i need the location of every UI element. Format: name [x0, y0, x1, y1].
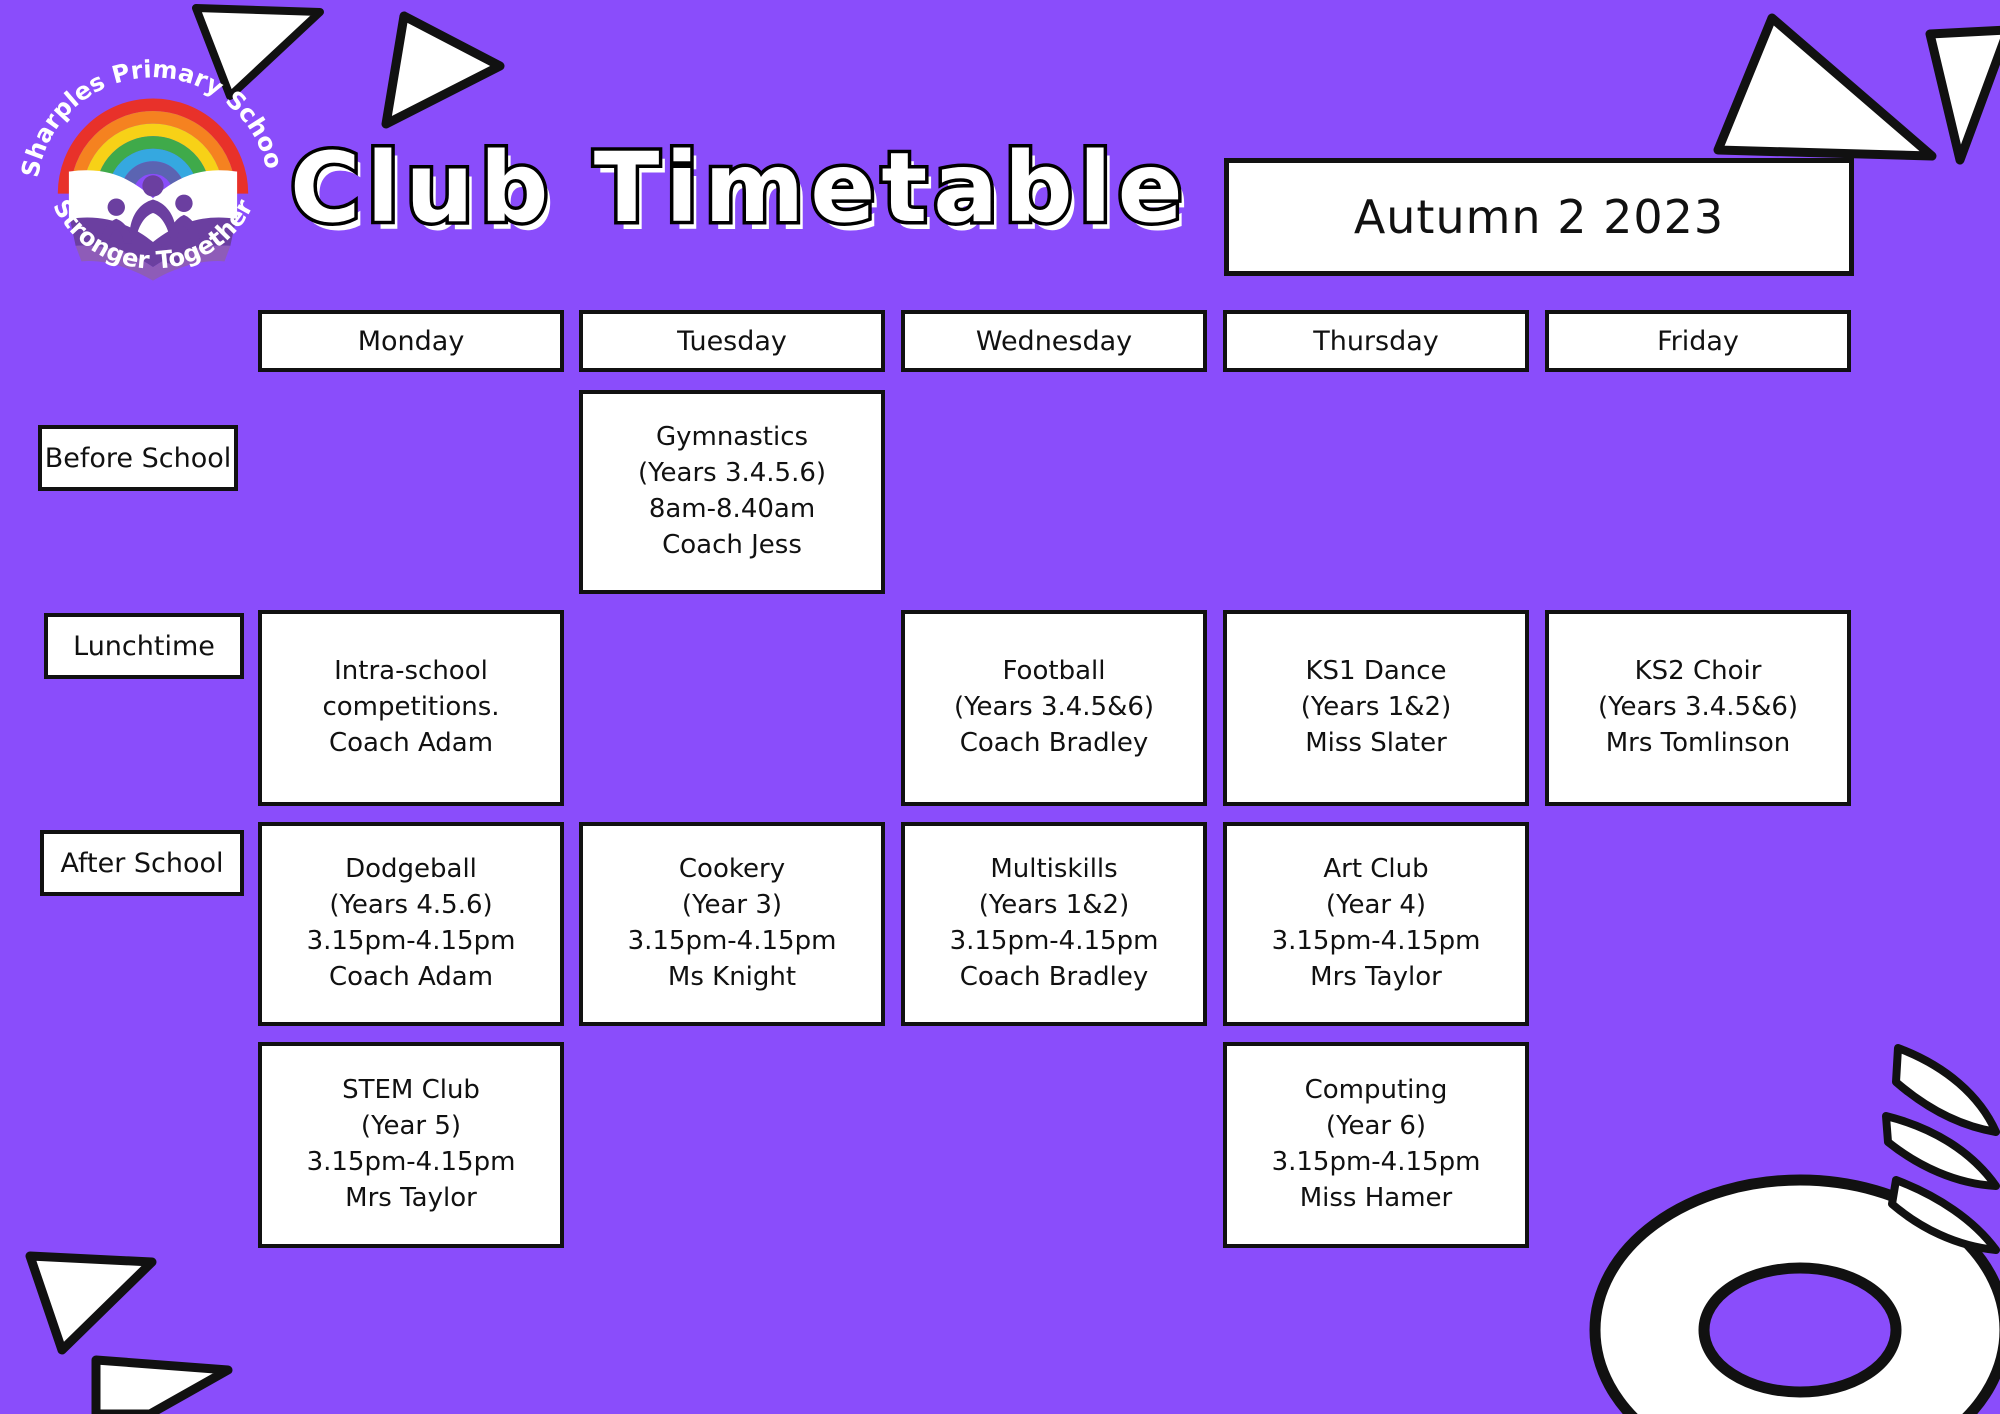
club-time: 3.15pm-4.15pm: [950, 924, 1159, 960]
club-years: (Years 1&2): [1301, 690, 1452, 726]
club-years: (Years 3.4.5&6): [954, 690, 1154, 726]
club-years: (Years 1&2): [979, 888, 1130, 924]
club-leader: Miss Slater: [1305, 726, 1447, 762]
row-label-before-school: Before School: [38, 425, 238, 491]
club-time: 3.15pm-4.15pm: [1272, 1145, 1481, 1181]
club-years: (Years 3.4.5&6): [1598, 690, 1798, 726]
day-header-label: Tuesday: [677, 326, 787, 357]
club-leader: Coach Adam: [329, 726, 493, 762]
club-card-computing[interactable]: Computing (Year 6) 3.15pm-4.15pm Miss Ha…: [1223, 1042, 1529, 1248]
day-header-wednesday: Wednesday: [901, 310, 1207, 372]
club-years: (Year 4): [1326, 888, 1426, 924]
term-badge: Autumn 2 2023: [1224, 158, 1854, 276]
club-card-gymnastics[interactable]: Gymnastics (Years 3.4.5.6) 8am-8.40am Co…: [579, 390, 885, 594]
day-header-monday: Monday: [258, 310, 564, 372]
day-header-tuesday: Tuesday: [579, 310, 885, 372]
club-name: Intra-school: [334, 654, 488, 690]
club-leader: Mrs Tomlinson: [1606, 726, 1791, 762]
term-label: Autumn 2 2023: [1354, 190, 1724, 244]
club-card-intra-school-competitions[interactable]: Intra-school competitions. Coach Adam: [258, 610, 564, 806]
day-header-label: Friday: [1657, 326, 1739, 357]
club-leader: Coach Bradley: [960, 726, 1149, 762]
club-years: (Year 6): [1326, 1109, 1426, 1145]
club-card-dodgeball[interactable]: Dodgeball (Years 4.5.6) 3.15pm-4.15pm Co…: [258, 822, 564, 1026]
club-card-football[interactable]: Football (Years 3.4.5&6) Coach Bradley: [901, 610, 1207, 806]
club-name: Dodgeball: [345, 852, 477, 888]
day-header-label: Monday: [358, 326, 465, 357]
club-leader: Mrs Taylor: [1310, 960, 1442, 996]
club-time: 3.15pm-4.15pm: [1272, 924, 1481, 960]
club-time: 3.15pm-4.15pm: [307, 1145, 516, 1181]
club-leader: Coach Bradley: [960, 960, 1149, 996]
club-card-art-club[interactable]: Art Club (Year 4) 3.15pm-4.15pm Mrs Tayl…: [1223, 822, 1529, 1026]
club-card-multiskills[interactable]: Multiskills (Years 1&2) 3.15pm-4.15pm Co…: [901, 822, 1207, 1026]
day-header-label: Wednesday: [976, 326, 1132, 357]
club-timetable-poster: Sharples Primary School Stronger Togethe…: [0, 0, 2000, 1414]
club-card-cookery[interactable]: Cookery (Year 3) 3.15pm-4.15pm Ms Knight: [579, 822, 885, 1026]
club-time: 8am-8.40am: [649, 492, 815, 528]
club-name: Multiskills: [990, 852, 1117, 888]
day-header-friday: Friday: [1545, 310, 1851, 372]
page-title: Club Timetable: [290, 140, 1189, 236]
club-name: KS1 Dance: [1305, 654, 1446, 690]
row-label-text: Lunchtime: [73, 631, 215, 662]
club-time: 3.15pm-4.15pm: [628, 924, 837, 960]
club-years: (Year 3): [682, 888, 782, 924]
row-label-after-school: After School: [40, 830, 244, 896]
row-label-text: After School: [60, 848, 223, 879]
club-years: (Year 5): [361, 1109, 461, 1145]
club-name: Cookery: [679, 852, 785, 888]
day-header-label: Thursday: [1313, 326, 1439, 357]
club-card-ks1-dance[interactable]: KS1 Dance (Years 1&2) Miss Slater: [1223, 610, 1529, 806]
club-detail: competitions.: [322, 690, 499, 726]
club-leader: Mrs Taylor: [345, 1181, 477, 1217]
school-logo: Sharples Primary School Stronger Togethe…: [8, 10, 298, 300]
row-label-lunchtime: Lunchtime: [44, 613, 244, 679]
club-years: (Years 4.5.6): [329, 888, 492, 924]
club-leader: Ms Knight: [668, 960, 796, 996]
club-name: Art Club: [1323, 852, 1428, 888]
club-name: Computing: [1305, 1073, 1448, 1109]
club-card-stem-club[interactable]: STEM Club (Year 5) 3.15pm-4.15pm Mrs Tay…: [258, 1042, 564, 1248]
club-leader: Coach Adam: [329, 960, 493, 996]
club-card-ks2-choir[interactable]: KS2 Choir (Years 3.4.5&6) Mrs Tomlinson: [1545, 610, 1851, 806]
row-label-text: Before School: [45, 443, 232, 474]
club-name: Football: [1003, 654, 1106, 690]
club-leader: Coach Jess: [662, 528, 802, 564]
club-name: KS2 Choir: [1635, 654, 1762, 690]
club-leader: Miss Hamer: [1300, 1181, 1453, 1217]
day-header-thursday: Thursday: [1223, 310, 1529, 372]
club-time: 3.15pm-4.15pm: [307, 924, 516, 960]
club-name: STEM Club: [342, 1073, 480, 1109]
club-name: Gymnastics: [656, 420, 808, 456]
club-years: (Years 3.4.5.6): [638, 456, 826, 492]
